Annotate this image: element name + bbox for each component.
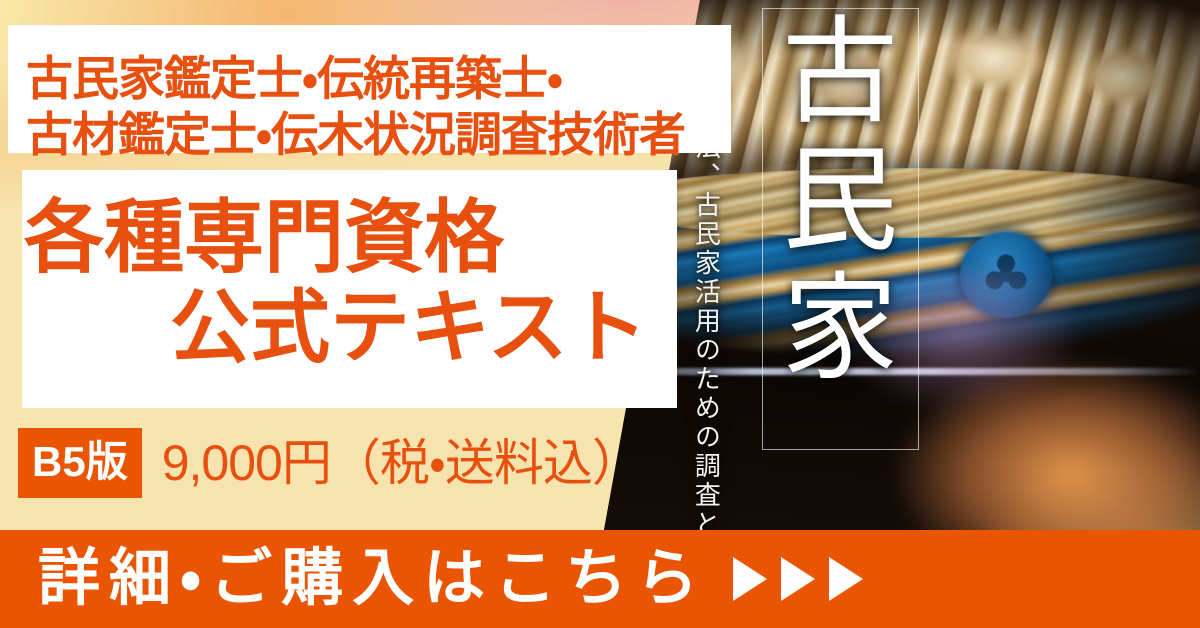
format-badge: B5版	[18, 428, 142, 498]
price-amount: 9,000円（税・送料込）	[162, 438, 641, 488]
promotional-banner: 古民家 伝統構法、古民家活用のための調査と再生の 古民家鑑定士・伝統再築士・ 古…	[0, 0, 1200, 628]
eyebrow-panel: 古民家鑑定士・伝統再築士・ 古材鑑定士・伝木状況調査技術者	[8, 25, 731, 153]
cta-arrows	[733, 557, 863, 601]
cover-title: 古民家	[782, 10, 898, 440]
eyebrow-line-1: 古民家鑑定士・伝統再築士・	[26, 52, 562, 105]
headline-line-1: 各種専門資格	[24, 198, 504, 278]
triangle-right-icon	[781, 557, 815, 601]
eyebrow-text: 古民家鑑定士・伝統再築士・ 古材鑑定士・伝木状況調査技術者	[26, 51, 726, 163]
price-row: B5版 9,000円（税・送料込）	[18, 428, 641, 498]
triangle-right-icon	[829, 557, 863, 601]
eyebrow-line-2: 古材鑑定士・伝木状況調査技術者	[26, 107, 726, 163]
cta-bar[interactable]: 詳細・ご購入はこちら	[0, 530, 1200, 628]
headline-line-2: 公式テキスト	[170, 288, 648, 368]
cta-label: 詳細・ご購入はこちら	[38, 548, 707, 610]
triangle-right-icon	[733, 557, 767, 601]
